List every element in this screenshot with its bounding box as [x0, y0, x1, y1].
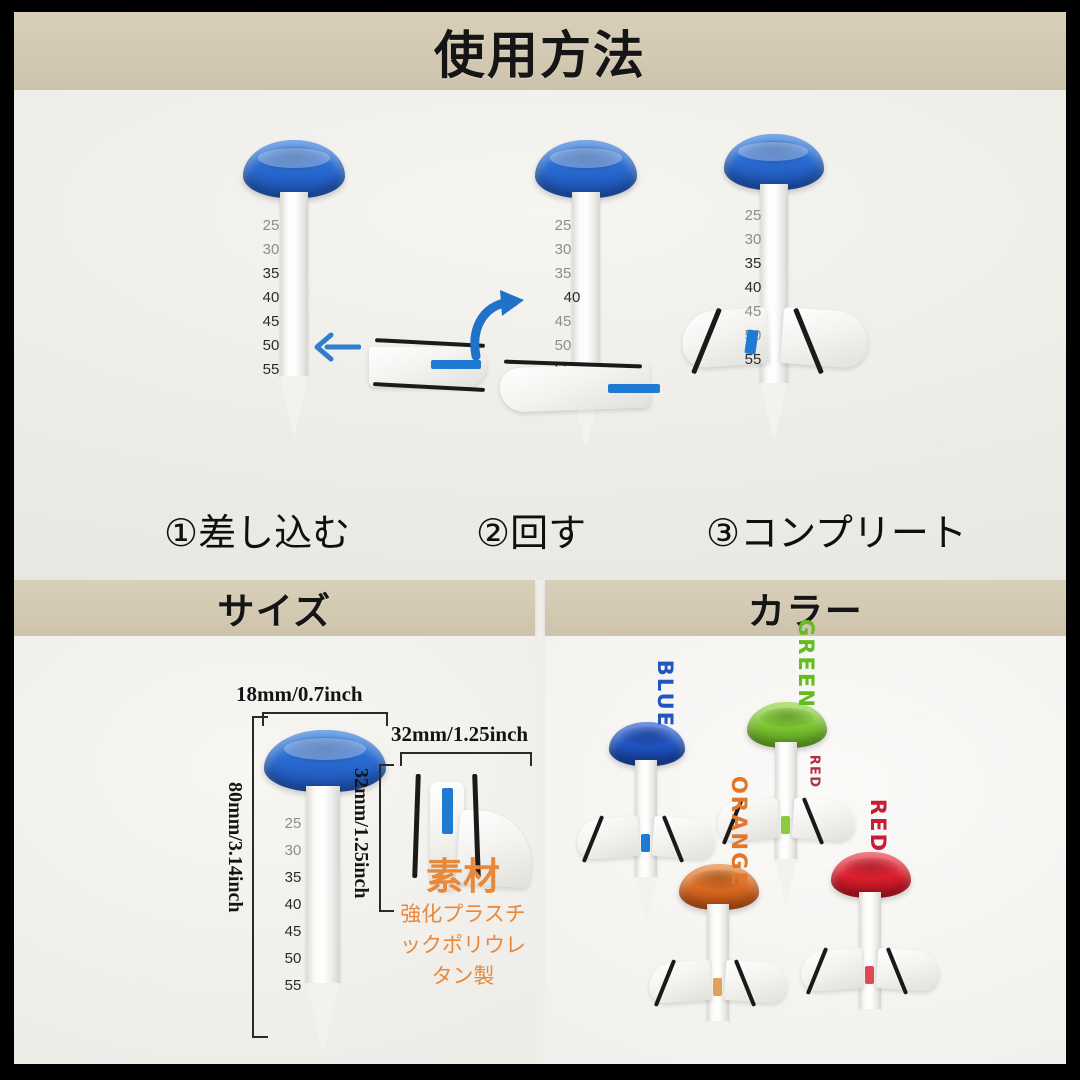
step-label-2: ②回す [476, 502, 586, 557]
material-line-3: タン製 [380, 963, 546, 990]
color-tee-orange: ORANGE [655, 836, 785, 1064]
tee-tip [707, 1021, 729, 1064]
step3-tee: 25 30 35 40 45 50 55 [702, 134, 872, 474]
infographic-page: 使用方法 25 30 35 40 45 50 55 [0, 0, 1080, 1080]
size-section-header: サイズ [14, 580, 535, 636]
scale-mark: 30 [285, 843, 302, 858]
scale-mark: 35 [263, 266, 280, 281]
scale-mark: 55 [263, 362, 280, 377]
material-line-1: 強化プラスチ [380, 901, 546, 928]
color-tee-red: RED [807, 824, 937, 1054]
scale-mark: 35 [745, 256, 762, 271]
howto-section: 25 30 35 40 45 50 55 [14, 90, 1066, 580]
dim-width-label: 18mm/0.7inch [236, 682, 363, 707]
scale-mark: 30 [745, 232, 762, 247]
scale-mark: 35 [285, 870, 302, 885]
scale-mark: 45 [285, 924, 302, 939]
image-canvas: 使用方法 25 30 35 40 45 50 55 [14, 12, 1066, 1064]
scale-mark: 45 [745, 304, 762, 319]
wing-stripe-blue [442, 788, 453, 834]
color-label-red-small: RED [806, 755, 821, 789]
scale-mark: 25 [285, 816, 302, 831]
tee-tip [760, 383, 788, 441]
shaft-stripe [713, 978, 722, 996]
scale-mark: 25 [263, 218, 280, 233]
shaft-stripe [865, 966, 874, 984]
tee-cup-rim [738, 142, 808, 161]
size-title: サイズ [217, 581, 331, 635]
shaft-stripe [781, 816, 790, 834]
size-tee: 25 30 35 40 45 50 55 [256, 724, 396, 1054]
scale-mark: 55 [285, 978, 302, 993]
tee-cup-rim [258, 148, 330, 168]
material-block: 素材 強化プラスチ ックポリウレ タン製 [380, 858, 546, 991]
wing-stripe-blue [608, 384, 660, 393]
tee-tip [859, 1009, 881, 1055]
color-label-red: RED [866, 799, 890, 853]
tee-tip [635, 877, 657, 923]
tee-cup-rim [550, 148, 622, 168]
tee-scale: 25 30 35 40 45 50 55 [546, 218, 580, 377]
scale-mark: 50 [285, 951, 302, 966]
dim-wing-width-label: 32mm/1.25inch [391, 722, 528, 747]
scale-mark: 50 [263, 338, 280, 353]
fin-right [724, 960, 789, 1004]
header-band: 使用方法 [14, 12, 1066, 90]
step-label-1: ①差し込む [164, 502, 350, 557]
scale-mark: 30 [263, 242, 280, 257]
scale-mark: 40 [263, 290, 280, 305]
scale-mark: 45 [555, 314, 572, 329]
fin-right [780, 307, 870, 369]
scale-mark: 25 [555, 218, 572, 233]
material-title: 素材 [380, 858, 546, 897]
page-title: 使用方法 [434, 14, 646, 88]
step2-tee: 25 30 35 40 45 50 55 [522, 140, 672, 480]
step-label-3: ③コンプリート [706, 502, 967, 557]
color-label-blue: BLUE [653, 660, 677, 728]
fin-right [876, 948, 941, 992]
insert-arrow-icon [309, 325, 361, 371]
color-panel: BLUE GREEN RED [545, 636, 1066, 1064]
scale-mark-highlight: 40 [564, 290, 581, 305]
scale-mark: 50 [555, 338, 572, 353]
tee-shaft [306, 786, 340, 984]
tee-scale: 25 30 35 40 45 50 55 [276, 816, 310, 993]
step1-tee: 25 30 35 40 45 50 55 [230, 140, 380, 470]
dim-height-bracket [252, 716, 268, 1038]
tee-scale: 25 30 35 40 45 50 55 [254, 218, 288, 377]
scale-mark: 40 [745, 280, 762, 295]
scale-mark: 40 [285, 897, 302, 912]
dim-height-label: 80mm/3.14inch [223, 782, 246, 913]
scale-mark: 25 [745, 208, 762, 223]
tee-cup-rim [284, 738, 366, 760]
size-panel: 18mm/0.7inch 25 30 35 40 45 50 55 [14, 636, 535, 1064]
scale-mark: 30 [555, 242, 572, 257]
material-line-2: ックポリウレ [380, 932, 546, 959]
color-label-green: GREEN [794, 619, 818, 709]
tee-tip [280, 376, 308, 438]
dim-wing-height-label: 32mm/1.25inch [349, 768, 372, 899]
tee-tip [306, 983, 340, 1053]
shaft-stripe [641, 834, 650, 852]
color-label-orange: ORANGE [727, 776, 751, 888]
scale-mark: 35 [555, 266, 572, 281]
arrow-left-icon [309, 330, 361, 364]
scale-mark: 45 [263, 314, 280, 329]
